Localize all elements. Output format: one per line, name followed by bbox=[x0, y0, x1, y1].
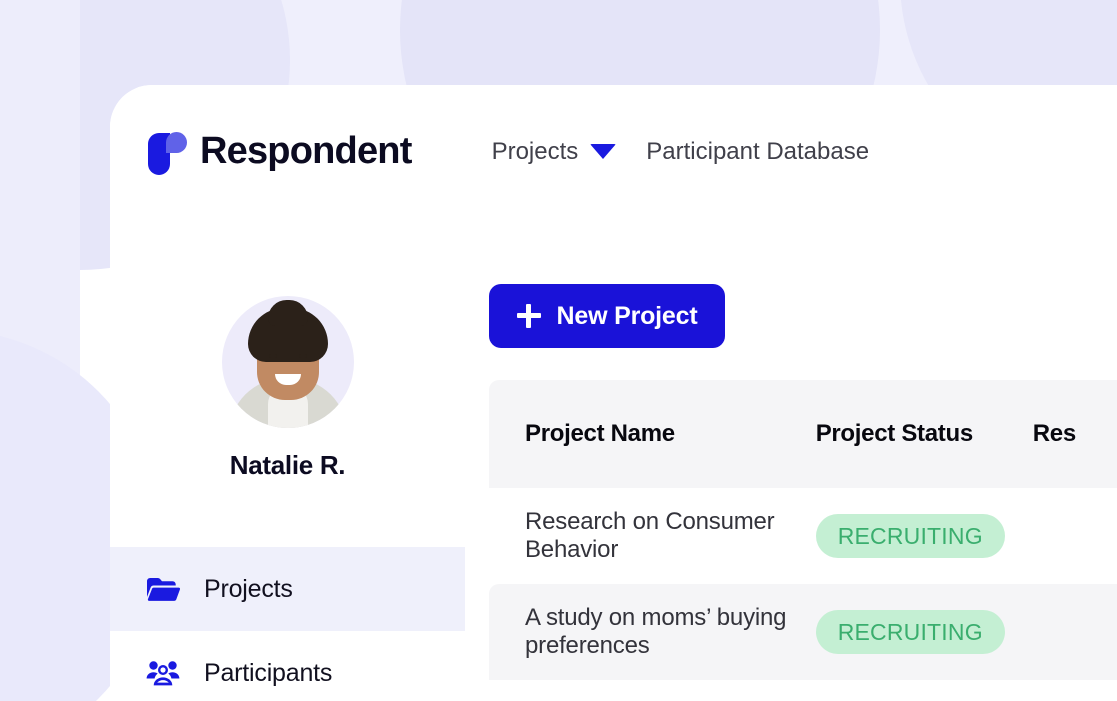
projects-table: Project Name Project Status Res Research… bbox=[489, 380, 1117, 680]
table-cell-project-status: RECRUITING bbox=[816, 610, 1033, 654]
table-header-res: Res bbox=[1033, 420, 1117, 448]
table-header-project-name: Project Name bbox=[489, 420, 816, 448]
new-project-button[interactable]: New Project bbox=[489, 284, 725, 348]
table-row[interactable]: A study on moms’ buying preferences RECR… bbox=[489, 584, 1117, 680]
app-window-card: Respondent Projects Participant Database bbox=[110, 85, 1117, 701]
avatar-hair-bun bbox=[268, 300, 308, 326]
brand-logo[interactable]: Respondent bbox=[146, 129, 412, 175]
profile-name: Natalie R. bbox=[230, 450, 346, 481]
plus-icon bbox=[517, 304, 541, 328]
respondent-logo-mark-icon bbox=[146, 129, 186, 175]
table-header-row: Project Name Project Status Res bbox=[489, 380, 1117, 488]
sidebar-profile: Natalie R. bbox=[110, 218, 465, 481]
brand-name: Respondent bbox=[200, 130, 412, 173]
sidebar-nav: Projects bbox=[110, 547, 465, 701]
avatar-eye-right bbox=[299, 354, 307, 358]
table-cell-project-status: RECRUITING bbox=[816, 514, 1033, 558]
nav-item-participant-database[interactable]: Participant Database bbox=[646, 138, 869, 166]
folder-open-icon bbox=[146, 573, 182, 605]
screenshot-root: Respondent Projects Participant Database bbox=[0, 0, 1117, 701]
sidebar-item-projects[interactable]: Projects bbox=[110, 547, 465, 631]
top-navigation-bar: Respondent Projects Participant Database bbox=[110, 85, 1117, 218]
nav-item-projects-label: Projects bbox=[492, 138, 579, 166]
logo-dot-shape bbox=[166, 132, 187, 153]
top-nav-links: Projects Participant Database bbox=[492, 138, 870, 166]
avatar[interactable] bbox=[222, 296, 354, 428]
chevron-down-icon[interactable] bbox=[590, 144, 616, 159]
sidebar: Natalie R. Projects bbox=[110, 218, 465, 701]
people-group-icon bbox=[146, 657, 182, 689]
sidebar-item-participants[interactable]: Participants bbox=[110, 631, 465, 701]
table-row[interactable]: Research on Consumer Behavior RECRUITING bbox=[489, 488, 1117, 584]
table-cell-project-name: Research on Consumer Behavior bbox=[489, 508, 816, 565]
nav-item-projects[interactable]: Projects bbox=[492, 138, 617, 166]
table-header-project-status: Project Status bbox=[816, 420, 1033, 448]
status-badge: RECRUITING bbox=[816, 610, 1005, 654]
avatar-eye-left bbox=[269, 354, 277, 358]
table-cell-project-name: A study on moms’ buying preferences bbox=[489, 604, 816, 661]
sidebar-item-projects-label: Projects bbox=[204, 575, 293, 604]
nav-item-participant-database-label: Participant Database bbox=[646, 138, 869, 166]
new-project-button-label: New Project bbox=[557, 302, 698, 331]
status-badge: RECRUITING bbox=[816, 514, 1005, 558]
sidebar-item-participants-label: Participants bbox=[204, 659, 332, 688]
main-content: New Project Project Name Project Status … bbox=[465, 218, 1117, 701]
